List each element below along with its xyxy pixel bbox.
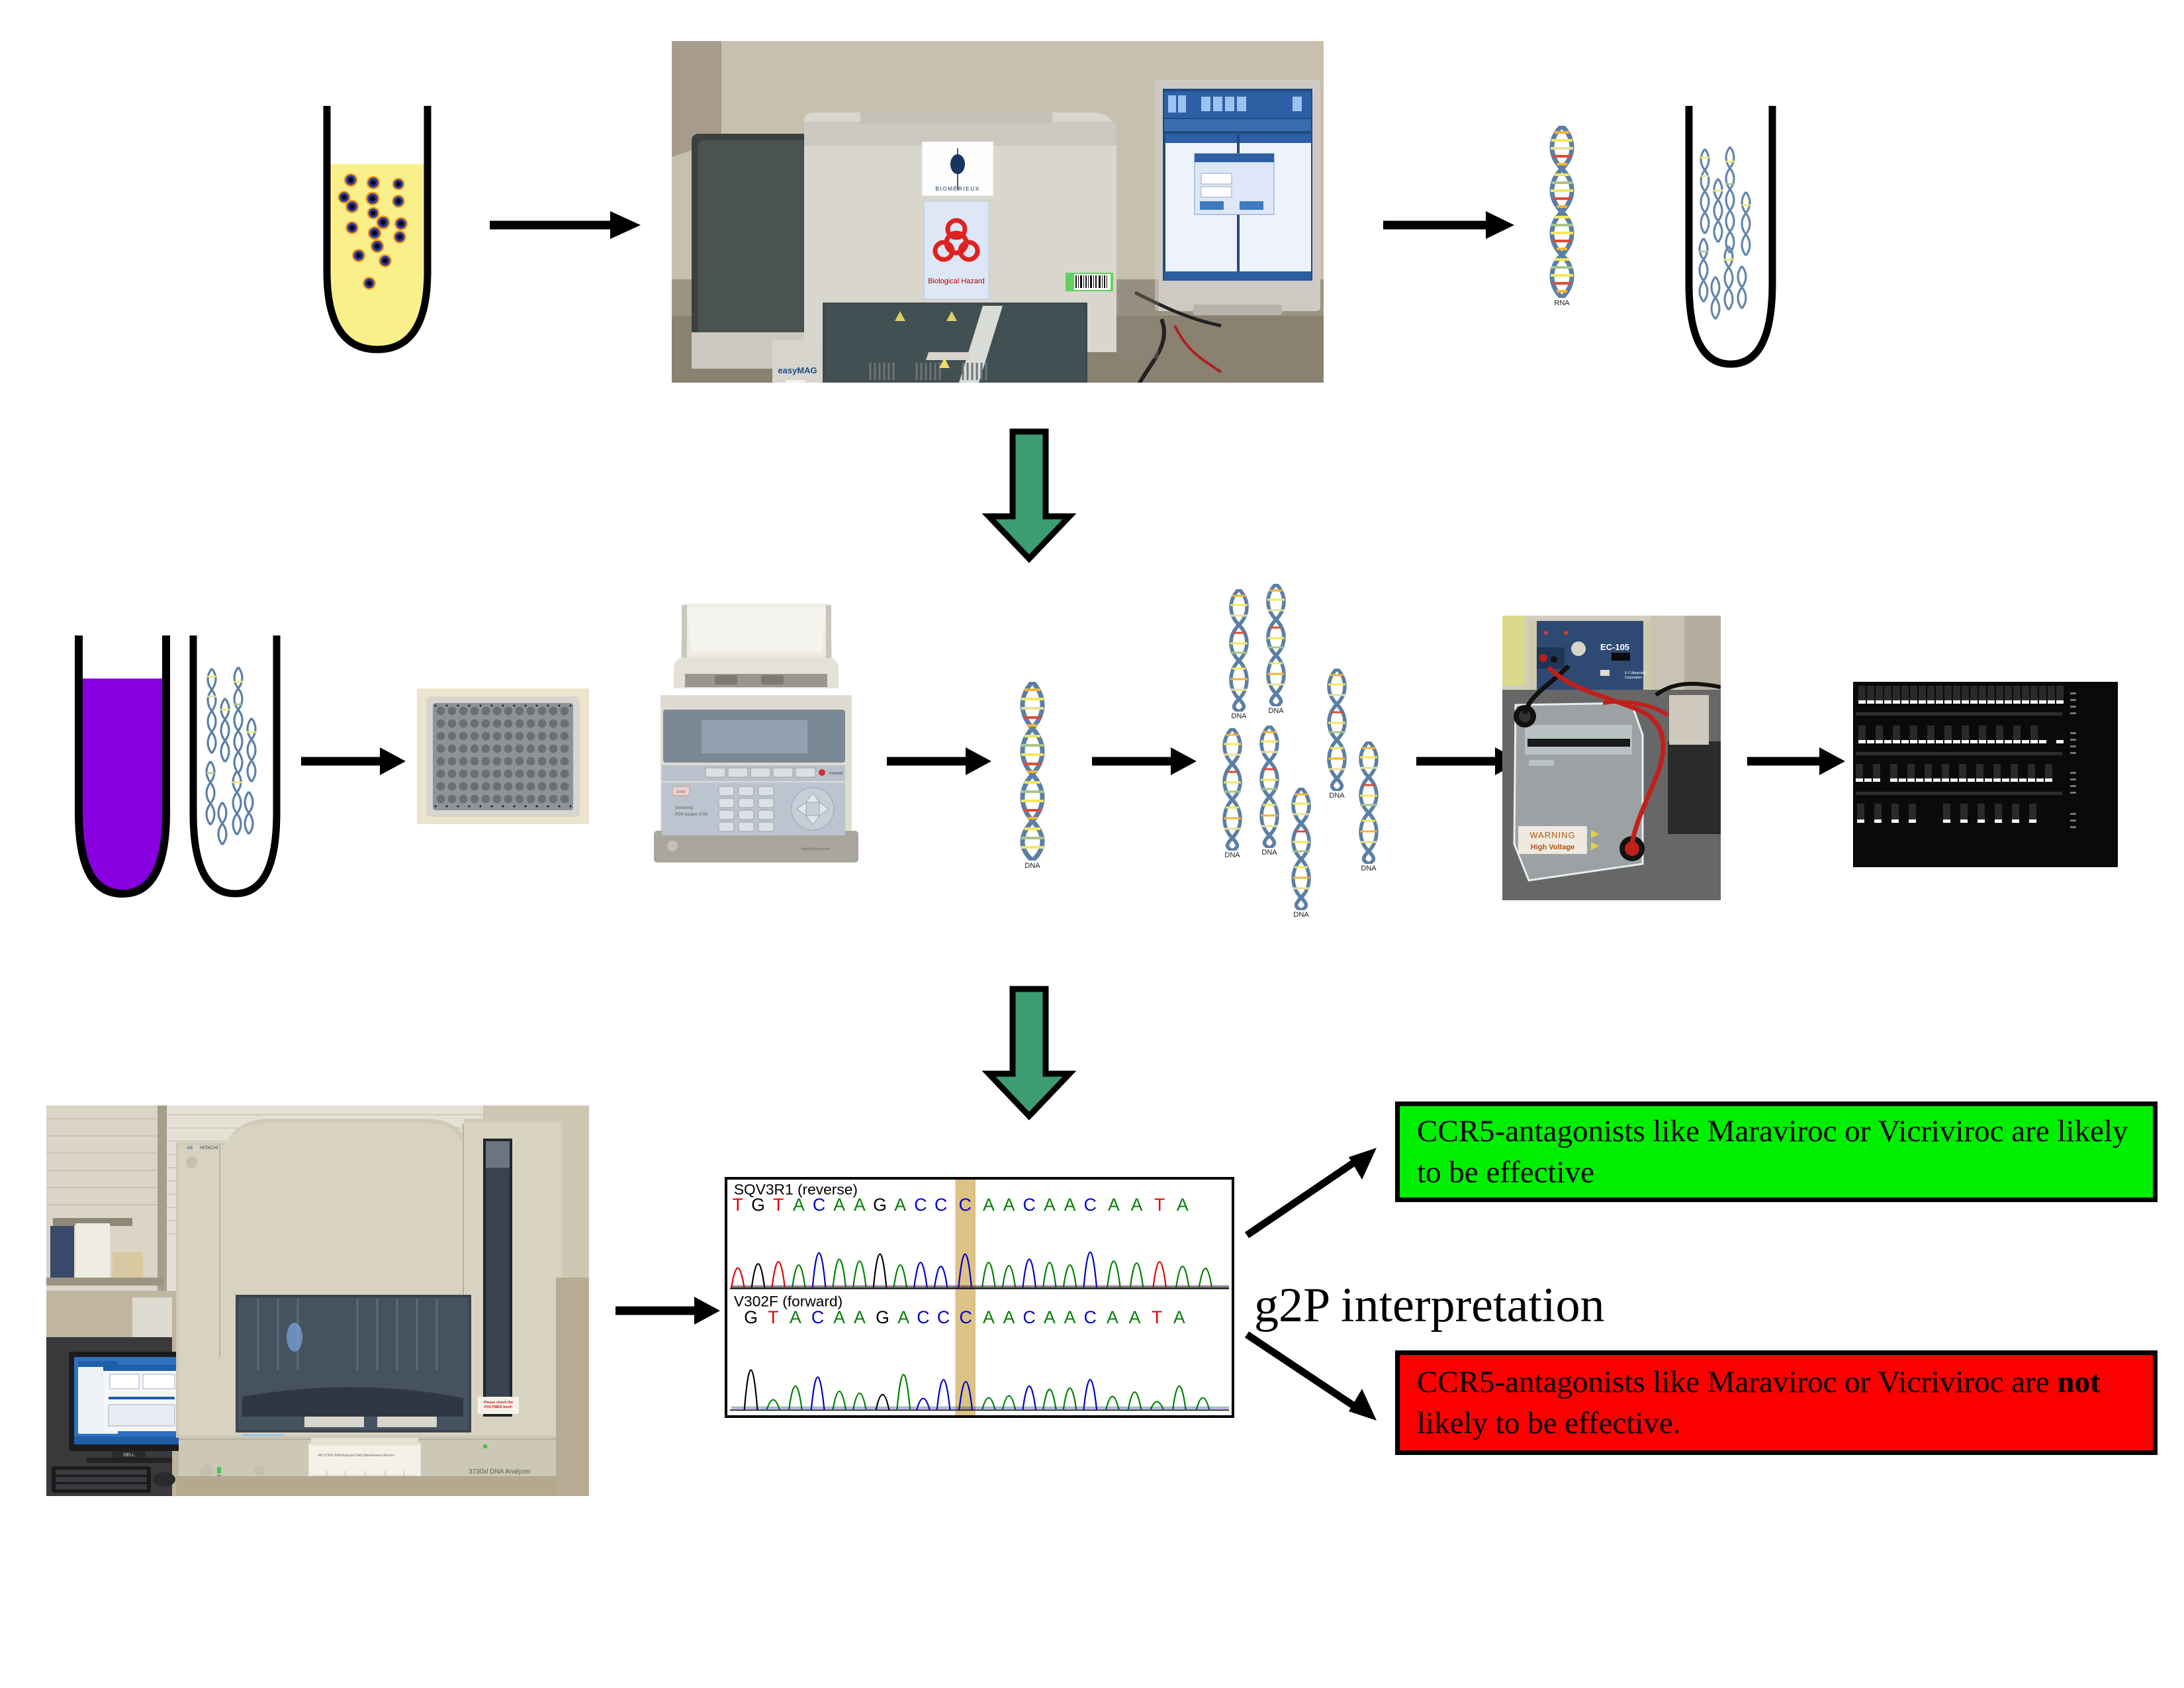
svg-text:T: T	[1154, 1195, 1165, 1215]
svg-text:C: C	[813, 1195, 825, 1215]
svg-text:POLYMER level!: POLYMER level!	[484, 1405, 512, 1409]
green-down-arrow-2	[986, 986, 1072, 1119]
extracted-nucleic-acid-tube	[1681, 106, 1780, 371]
arrow-tubes-to-plate	[301, 735, 407, 788]
result-not-effective-emphasis: not	[2057, 1365, 2100, 1399]
svg-text:A: A	[1003, 1307, 1015, 1327]
svg-text:POWER: POWER	[829, 772, 843, 776]
svg-text:C: C	[1023, 1307, 1036, 1327]
svg-text:A: A	[1064, 1307, 1076, 1327]
result-not-effective-part-1: CCR5-antagonists like Maraviroc or Vicri…	[1417, 1365, 2057, 1399]
arrow-to-positive-result	[1244, 1145, 1383, 1238]
product-helix-4: DNA	[1218, 728, 1247, 851]
product-helix-2-label: DNA	[1261, 707, 1291, 715]
product-helix-3: DNA	[1322, 669, 1351, 791]
product-helix-2: DNA	[1261, 584, 1291, 706]
svg-text:A: A	[1131, 1195, 1143, 1215]
svg-text:A: A	[983, 1195, 995, 1215]
svg-text:GeneAmp: GeneAmp	[675, 806, 694, 810]
svg-text:A: A	[897, 1307, 909, 1327]
green-down-arrow-1	[986, 429, 1072, 561]
product-helix-6-label: DNA	[1287, 911, 1316, 919]
svg-text:AB 3730xl DNA Analyzer Daily M: AB 3730xl DNA Analyzer Daily Maintenance…	[318, 1454, 394, 1458]
svg-text:A: A	[1044, 1307, 1056, 1327]
amplicon-dna-helix-icon: DNA	[1013, 682, 1052, 861]
result-box-not-effective: CCR5-antagonists like Maraviroc or Vicri…	[1395, 1350, 2158, 1455]
svg-text:T: T	[733, 1195, 743, 1215]
svg-text:C: C	[1084, 1307, 1097, 1327]
svg-text:EC-105: EC-105	[1600, 642, 1629, 652]
rna-helix-icon: RNA	[1542, 126, 1582, 298]
product-helix-5: DNA	[1255, 726, 1284, 848]
product-helix-6: DNA	[1287, 788, 1316, 910]
svg-text:A: A	[1173, 1307, 1185, 1327]
svg-text:C: C	[960, 1307, 972, 1327]
product-helix-7: DNA	[1354, 741, 1383, 864]
svg-text:A: A	[854, 1307, 866, 1327]
svg-text:A: A	[793, 1195, 805, 1215]
rna-helix-label: RNA	[1542, 299, 1582, 307]
arrow-gel-rig-to-gel-image	[1747, 735, 1846, 788]
svg-text:A: A	[790, 1307, 801, 1327]
svg-text:DELL: DELL	[123, 1453, 135, 1458]
svg-text:A: A	[1177, 1195, 1189, 1215]
product-helix-4-label: DNA	[1218, 851, 1247, 859]
svg-text:C: C	[914, 1195, 927, 1215]
agarose-gel-image	[1853, 682, 2118, 867]
svg-text:C: C	[934, 1195, 947, 1215]
svg-text:C: C	[811, 1307, 824, 1327]
result-not-effective-part-3: likely to be effective.	[1417, 1406, 1680, 1440]
product-helix-1-label: DNA	[1224, 712, 1253, 720]
sanger-chromatogram: SQV3R1 (reverse) T G T A C A A G A C C C…	[725, 1177, 1234, 1418]
svg-text:C: C	[1084, 1195, 1097, 1215]
svg-text:STOP: STOP	[676, 790, 686, 794]
svg-text:High Voltage: High Voltage	[1531, 843, 1574, 851]
svg-text:T: T	[773, 1195, 784, 1215]
arrow-to-negative-result	[1244, 1331, 1383, 1423]
svg-text:A: A	[1003, 1195, 1015, 1215]
arrow-sequencer-to-chromatogram	[615, 1284, 721, 1337]
cdna-tube	[185, 635, 285, 900]
lysis-buffer-tube	[69, 635, 175, 900]
svg-text:A: A	[983, 1307, 995, 1327]
svg-text:A: A	[1108, 1195, 1120, 1215]
arrow-amplicon-to-products	[1092, 735, 1198, 788]
svg-text:AB: AB	[187, 1146, 193, 1150]
svg-text:Applied Biosystems: Applied Biosystems	[801, 847, 830, 851]
svg-text:C: C	[917, 1307, 929, 1327]
svg-text:PCR System 9700: PCR System 9700	[675, 813, 708, 817]
amplified-products-cluster: DNA DNA	[1218, 596, 1430, 927]
svg-text:T: T	[768, 1307, 778, 1327]
thermal-cycler-photo: POWER STOP GeneAmp PCR System 9700 Appli…	[649, 596, 864, 874]
svg-text:C: C	[937, 1307, 950, 1327]
capillary-sequencer-photo: DELL AB HITACHI	[46, 1105, 589, 1496]
product-helix-1: DNA	[1224, 589, 1253, 712]
svg-text:Please check the: Please check the	[484, 1401, 513, 1405]
svg-text:BIOMÉRIEUX: BIOMÉRIEUX	[935, 185, 979, 192]
amplicon-dna-label: DNA	[1013, 862, 1052, 870]
svg-text:A: A	[1044, 1195, 1056, 1215]
result-not-effective-text: CCR5-antagonists like Maraviroc or Vicri…	[1417, 1362, 2136, 1444]
gel-electrophoresis-rig-photo: EC-105 E-C Apparatus Corporation WARNING…	[1502, 616, 1721, 900]
svg-text:G: G	[744, 1307, 758, 1327]
svg-text:A: A	[1129, 1307, 1141, 1327]
svg-text:Corporation: Corporation	[1625, 676, 1642, 680]
svg-text:G: G	[876, 1307, 889, 1327]
arrow-cycler-to-amplicon	[887, 735, 993, 788]
svg-text:G: G	[751, 1195, 765, 1215]
svg-text:3730xl DNA Analyzer: 3730xl DNA Analyzer	[469, 1468, 531, 1476]
svg-text:C: C	[1023, 1195, 1036, 1215]
svg-text:A: A	[894, 1195, 906, 1215]
svg-text:A: A	[1107, 1307, 1118, 1327]
pcr-well-plate-photo	[417, 688, 589, 824]
result-effective-text: CCR5-antagonists like Maraviroc or Vicri…	[1417, 1111, 2136, 1193]
svg-text:E-C Apparatus: E-C Apparatus	[1625, 671, 1647, 675]
svg-text:A: A	[1064, 1195, 1076, 1215]
nucleic-acid-extractor-photo: BIOMÉRIEUX Biological Hazard	[672, 41, 1324, 383]
svg-text:Biological Hazard: Biological Hazard	[928, 277, 985, 285]
svg-text:WARNING: WARNING	[1529, 830, 1575, 840]
arrow-extractor-to-rna	[1383, 199, 1516, 252]
product-helix-7-label: DNA	[1354, 865, 1383, 872]
svg-text:A: A	[854, 1195, 866, 1215]
interpretation-label: g2P interpretation	[1254, 1278, 1605, 1334]
product-helix-3-label: DNA	[1322, 792, 1351, 800]
plasma-sample-tube	[318, 106, 437, 357]
svg-text:G: G	[873, 1195, 887, 1215]
svg-text:HITACHI: HITACHI	[200, 1146, 218, 1150]
svg-text:T: T	[1152, 1307, 1162, 1327]
svg-text:C: C	[959, 1195, 972, 1215]
arrow-sample-to-extractor	[490, 199, 642, 252]
svg-text:A: A	[833, 1307, 845, 1327]
product-helix-5-label: DNA	[1255, 849, 1284, 857]
result-box-effective: CCR5-antagonists like Maraviroc or Vicri…	[1395, 1102, 2158, 1202]
svg-text:A: A	[833, 1195, 845, 1215]
